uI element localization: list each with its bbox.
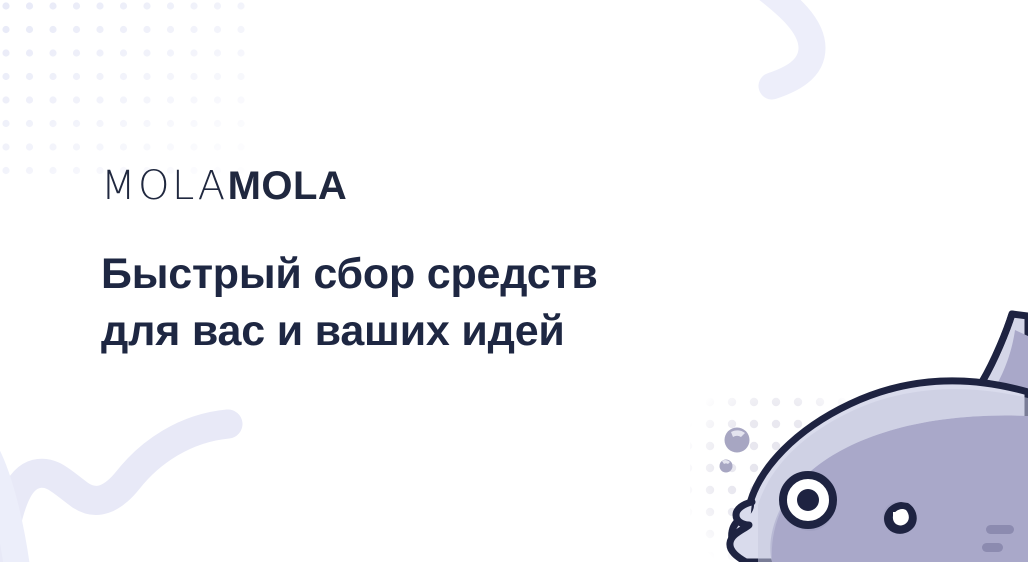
logo-bold-text: MOLA	[228, 164, 348, 208]
bubble-small	[720, 460, 733, 473]
squiggle-bottom-left-shape	[0, 424, 228, 562]
hero-text-block: MOLAMOLA Быстрый сбор средств для вас и …	[101, 166, 598, 360]
squiggle-bottom-left-tail	[0, 452, 18, 562]
fish-eye	[783, 475, 834, 531]
brand-logo[interactable]: MOLAMOLA	[101, 166, 598, 206]
mola-mola-illustration	[690, 295, 1028, 562]
zigzag-top-right-shape	[758, 0, 812, 86]
logo-light-text: MOLA	[101, 163, 228, 209]
bubble-large	[725, 428, 750, 453]
hero-banner: MOLAMOLA Быстрый сбор средств для вас и …	[0, 0, 1028, 562]
hero-headline: Быстрый сбор средств для вас и ваших иде…	[101, 246, 598, 360]
dot-pattern-top-left	[0, 0, 258, 184]
fish-body	[732, 381, 1028, 562]
